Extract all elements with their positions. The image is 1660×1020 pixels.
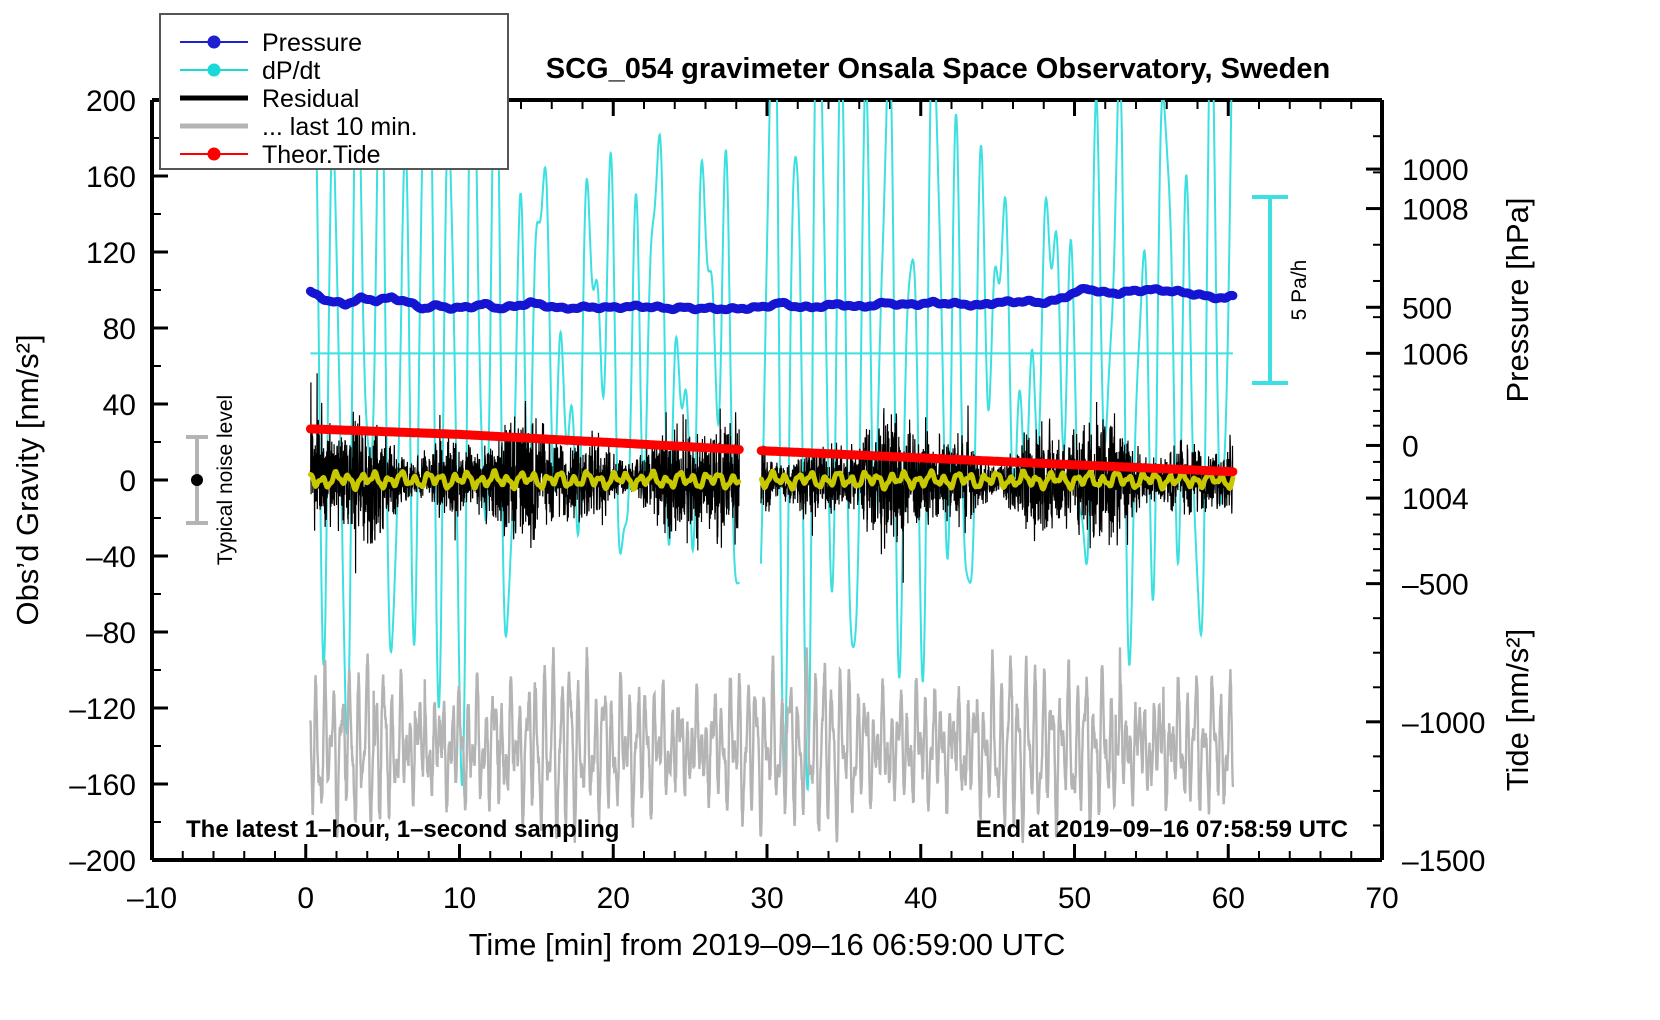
svg-text:70: 70 <box>1365 882 1398 915</box>
typical-noise-level-marker <box>186 437 208 523</box>
svg-text:50: 50 <box>1058 882 1091 915</box>
svg-text:1004: 1004 <box>1402 483 1469 516</box>
legend-marker-dot <box>208 148 221 161</box>
svg-text:–200: –200 <box>69 845 136 878</box>
series-pressure <box>310 289 1233 310</box>
bottom-left-annotation: The latest 1–hour, 1–second sampling <box>186 816 619 843</box>
legend-marker-dot <box>208 64 221 77</box>
svg-text:20: 20 <box>597 882 630 915</box>
svg-text:–500: –500 <box>1402 569 1469 602</box>
gravimeter-plot: –1001020304050607020016012080400–40–80–1… <box>0 0 1660 1020</box>
svg-text:160: 160 <box>86 161 136 194</box>
svg-text:–80: –80 <box>86 617 136 650</box>
legend: PressuredP/dtResidual... last 10 min.The… <box>160 14 508 169</box>
legend-label: Pressure <box>262 29 362 57</box>
svg-text:–160: –160 <box>69 769 136 802</box>
legend-label: Residual <box>262 85 359 113</box>
svg-text:40: 40 <box>103 389 136 422</box>
pressure-scalebar <box>1252 197 1288 383</box>
legend-label: Theor.Tide <box>262 141 381 169</box>
svg-text:0: 0 <box>1402 430 1419 463</box>
chart-root: –1001020304050607020016012080400–40–80–1… <box>0 0 1660 1020</box>
legend-marker-dot <box>208 36 221 49</box>
svg-text:120: 120 <box>86 237 136 270</box>
svg-text:80: 80 <box>103 313 136 346</box>
svg-text:1000: 1000 <box>1402 154 1469 187</box>
svg-text:40: 40 <box>904 882 937 915</box>
legend-label: dP/dt <box>262 57 320 85</box>
svg-text:0: 0 <box>119 465 136 498</box>
svg-text:30: 30 <box>750 882 783 915</box>
svg-text:–40: –40 <box>86 541 136 574</box>
svg-text:500: 500 <box>1402 292 1452 325</box>
svg-text:60: 60 <box>1212 882 1245 915</box>
bottom-right-annotation: End at 2019–09–16 07:58:59 UTC <box>976 816 1348 843</box>
svg-text:–120: –120 <box>69 693 136 726</box>
y-axis-tide-label: Tide [nm/s²] <box>1500 629 1535 792</box>
series-last-10-min <box>310 647 1233 843</box>
svg-text:10: 10 <box>443 882 476 915</box>
svg-text:–1000: –1000 <box>1402 707 1485 740</box>
svg-text:200: 200 <box>86 85 136 118</box>
pressure-scalebar-label: 5 Pa/h <box>1288 260 1311 321</box>
y-axis-left-label: Obs’d Gravity [nm/s²] <box>10 334 45 625</box>
svg-text:–1500: –1500 <box>1402 845 1485 878</box>
svg-text:–10: –10 <box>127 882 177 915</box>
svg-text:1006: 1006 <box>1402 338 1469 371</box>
svg-text:1008: 1008 <box>1402 194 1469 227</box>
svg-text:0: 0 <box>297 882 314 915</box>
page-title: SCG_054 gravimeter Onsala Space Observat… <box>546 53 1330 85</box>
typical-noise-level-label: Typical noise level <box>214 395 237 565</box>
y-axis-pressure-label: Pressure [hPa] <box>1500 197 1535 402</box>
x-axis-label: Time [min] from 2019–09–16 06:59:00 UTC <box>469 927 1066 962</box>
legend-label: ... last 10 min. <box>262 113 418 141</box>
